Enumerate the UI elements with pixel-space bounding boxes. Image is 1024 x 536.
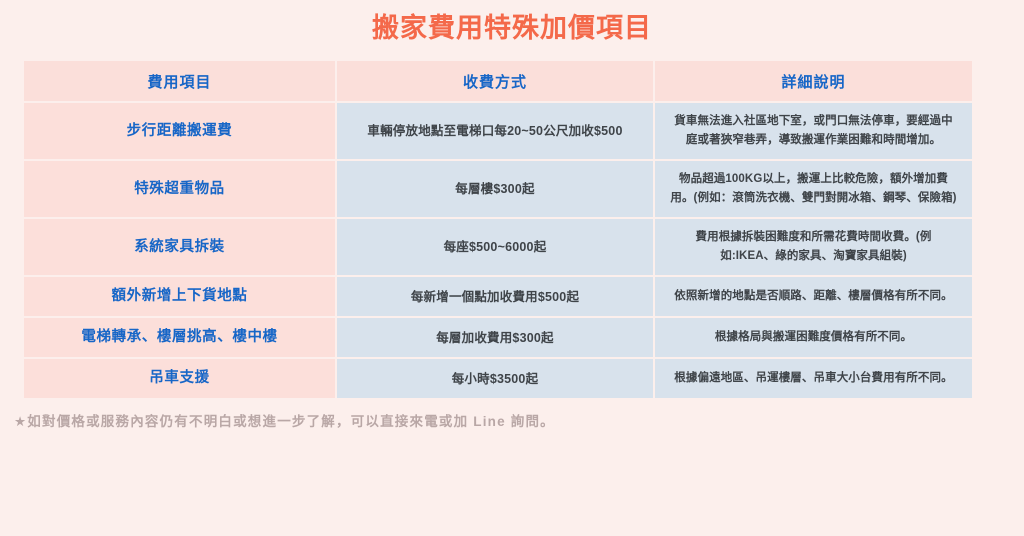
cell-detail: 貨車無法進入社區地下室，或門口無法停車，要經過中庭或著狹窄巷弄，導致搬運作業困難… — [655, 103, 972, 159]
table-row: 額外新增上下貨地點 每新增一個點加收費用$500起 依照新增的地點是否順路、距離… — [24, 277, 972, 316]
cell-detail: 根據偏遠地區、吊運樓層、吊車大小台費用有所不同。 — [655, 359, 972, 398]
table-header-row: 費用項目 收費方式 詳細說明 — [24, 61, 972, 101]
cell-item: 特殊超重物品 — [24, 161, 335, 217]
page-title: 搬家費用特殊加價項目 — [0, 0, 1024, 45]
footnote: ★如對價格或服務內容仍有不明白或想進一步了解，可以直接來電或加 Line 詢問。 — [14, 412, 1024, 432]
cell-detail: 物品超過100KG以上，搬運上比較危險，額外增加費用。(例如：滾筒洗衣機、雙門對… — [655, 161, 972, 217]
page-root: 搬家費用特殊加價項目 費用項目 收費方式 詳細說明 步行距離搬運費 車輛停放地點… — [0, 0, 1024, 536]
cell-detail: 費用根據拆裝困難度和所需花費時間收費。(例如:IKEA、綠的家具、淘寶家具組裝) — [655, 219, 972, 275]
cell-method: 每層樓$300起 — [337, 161, 653, 217]
cell-item: 吊車支援 — [24, 359, 335, 398]
table-header: 費用項目 收費方式 詳細說明 — [24, 61, 972, 101]
cell-method: 每小時$3500起 — [337, 359, 653, 398]
cell-method: 車輛停放地點至電梯口每20~50公尺加收$500 — [337, 103, 653, 159]
table-row: 吊車支援 每小時$3500起 根據偏遠地區、吊運樓層、吊車大小台費用有所不同。 — [24, 359, 972, 398]
cell-item: 步行距離搬運費 — [24, 103, 335, 159]
column-header-item: 費用項目 — [24, 61, 335, 101]
column-header-detail: 詳細說明 — [655, 61, 972, 101]
table-row: 特殊超重物品 每層樓$300起 物品超過100KG以上，搬運上比較危險，額外增加… — [24, 161, 972, 217]
cell-detail: 依照新增的地點是否順路、距離、樓層價格有所不同。 — [655, 277, 972, 316]
cell-item: 額外新增上下貨地點 — [24, 277, 335, 316]
table-row: 系統家具拆裝 每座$500~6000起 費用根據拆裝困難度和所需花費時間收費。(… — [24, 219, 972, 275]
fee-table-container: 費用項目 收費方式 詳細說明 步行距離搬運費 車輛停放地點至電梯口每20~50公… — [22, 59, 972, 400]
column-header-method: 收費方式 — [337, 61, 653, 101]
table-row: 步行距離搬運費 車輛停放地點至電梯口每20~50公尺加收$500 貨車無法進入社… — [24, 103, 972, 159]
fee-table: 費用項目 收費方式 詳細說明 步行距離搬運費 車輛停放地點至電梯口每20~50公… — [22, 59, 974, 400]
table-row: 電梯轉承、樓層挑高、樓中樓 每層加收費用$300起 根據格局與搬運困難度價格有所… — [24, 318, 972, 357]
cell-item: 電梯轉承、樓層挑高、樓中樓 — [24, 318, 335, 357]
cell-item: 系統家具拆裝 — [24, 219, 335, 275]
table-body: 步行距離搬運費 車輛停放地點至電梯口每20~50公尺加收$500 貨車無法進入社… — [24, 103, 972, 398]
cell-method: 每座$500~6000起 — [337, 219, 653, 275]
cell-method: 每層加收費用$300起 — [337, 318, 653, 357]
cell-detail: 根據格局與搬運困難度價格有所不同。 — [655, 318, 972, 357]
cell-method: 每新增一個點加收費用$500起 — [337, 277, 653, 316]
